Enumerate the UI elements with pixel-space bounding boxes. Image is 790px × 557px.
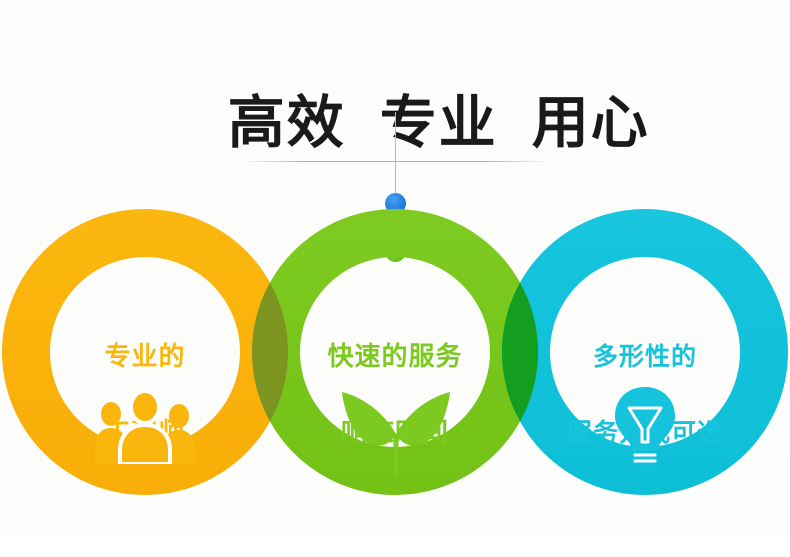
circle-label-engineers-line1: 专业的 [30, 338, 260, 376]
circle-label-response-time-line1: 快速的服务 [280, 338, 510, 376]
lightbulb-icon [605, 385, 685, 465]
three-people-icon [95, 392, 195, 464]
poster-canvas: 高效专业用心 [0, 0, 790, 557]
circle-label-service-modes-line1: 多形性的 [530, 338, 760, 376]
sprout-leaves-icon [340, 382, 452, 474]
